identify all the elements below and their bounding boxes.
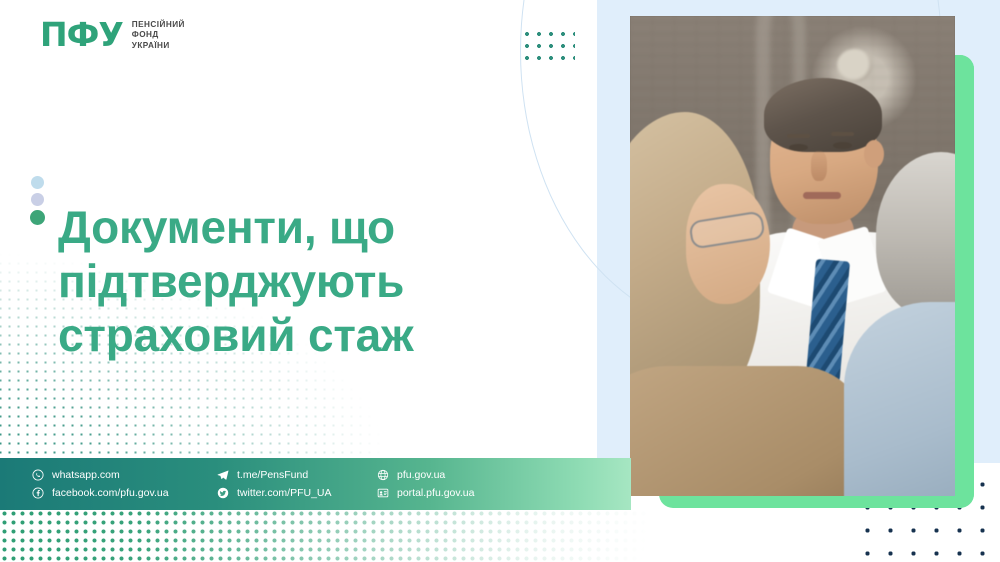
photo-green-edge-strip: [955, 55, 974, 508]
footer-column-1: whatsapp.com facebook.com/pfu.gov.ua: [32, 469, 217, 499]
photo-wall-clock: [837, 49, 872, 82]
photo-man-eye-right: [833, 142, 852, 149]
photo-man-ear: [864, 140, 884, 168]
dot-grid-top: [519, 26, 575, 60]
contact-website[interactable]: pfu.gov.ua: [377, 469, 527, 481]
photo-man-mouth: [803, 192, 841, 199]
photo-scene: [630, 16, 955, 496]
logo-line-3: УКРАЇНИ: [132, 41, 185, 50]
halftone-pattern-bottom: [0, 509, 700, 562]
accent-dot-blue: [31, 176, 44, 189]
contact-label: portal.pfu.gov.ua: [397, 487, 474, 499]
whatsapp-icon: [32, 469, 44, 481]
contacts-footer-bar: whatsapp.com facebook.com/pfu.gov.ua t.m…: [0, 458, 631, 510]
contact-whatsapp[interactable]: whatsapp.com: [32, 469, 217, 481]
photo-man-brow-left: [787, 134, 810, 138]
portal-icon: [377, 487, 389, 499]
contact-label: pfu.gov.ua: [397, 469, 445, 481]
twitter-icon: [217, 487, 229, 499]
telegram-icon: [217, 469, 229, 481]
contact-label: facebook.com/pfu.gov.ua: [52, 487, 169, 499]
photo-man-brow-right: [831, 132, 854, 136]
accent-dot-lavender: [31, 193, 44, 206]
contact-label: twitter.com/PFU_UA: [237, 487, 332, 499]
slide-root: ПФУ ПЕНСІЙНИЙ ФОНД УКРАЇНИ Документи, що…: [0, 0, 1000, 562]
contact-label: whatsapp.com: [52, 469, 120, 481]
consultation-photo: [630, 16, 955, 496]
photo-woman-sweater: [630, 366, 868, 496]
contact-facebook[interactable]: facebook.com/pfu.gov.ua: [32, 487, 217, 499]
title-accent-dots: [31, 176, 45, 225]
contact-telegram[interactable]: t.me/PensFund: [217, 469, 377, 481]
facebook-icon: [32, 487, 44, 499]
logo-wordmark: ПЕНСІЙНИЙ ФОНД УКРАЇНИ: [132, 19, 185, 50]
footer-column-3: pfu.gov.ua portal.pfu.gov.ua: [377, 469, 527, 499]
contact-portal[interactable]: portal.pfu.gov.ua: [377, 487, 527, 499]
contact-label: t.me/PensFund: [237, 469, 308, 481]
photo-man-hair: [764, 78, 882, 152]
contact-twitter[interactable]: twitter.com/PFU_UA: [217, 487, 377, 499]
pfu-logo: ПФУ ПЕНСІЙНИЙ ФОНД УКРАЇНИ: [40, 18, 185, 51]
accent-dot-green: [30, 210, 45, 225]
globe-icon: [377, 469, 389, 481]
logo-line-1: ПЕНСІЙНИЙ: [132, 20, 185, 29]
photo-man-eye-left: [789, 144, 808, 151]
photo-man-nose: [811, 151, 827, 181]
slide-title: Документи, що підтверджують страховий ст…: [58, 200, 628, 362]
footer-column-2: t.me/PensFund twitter.com/PFU_UA: [217, 469, 377, 499]
logo-line-2: ФОНД: [132, 30, 185, 39]
logo-mark-text: ПФУ: [40, 18, 123, 51]
